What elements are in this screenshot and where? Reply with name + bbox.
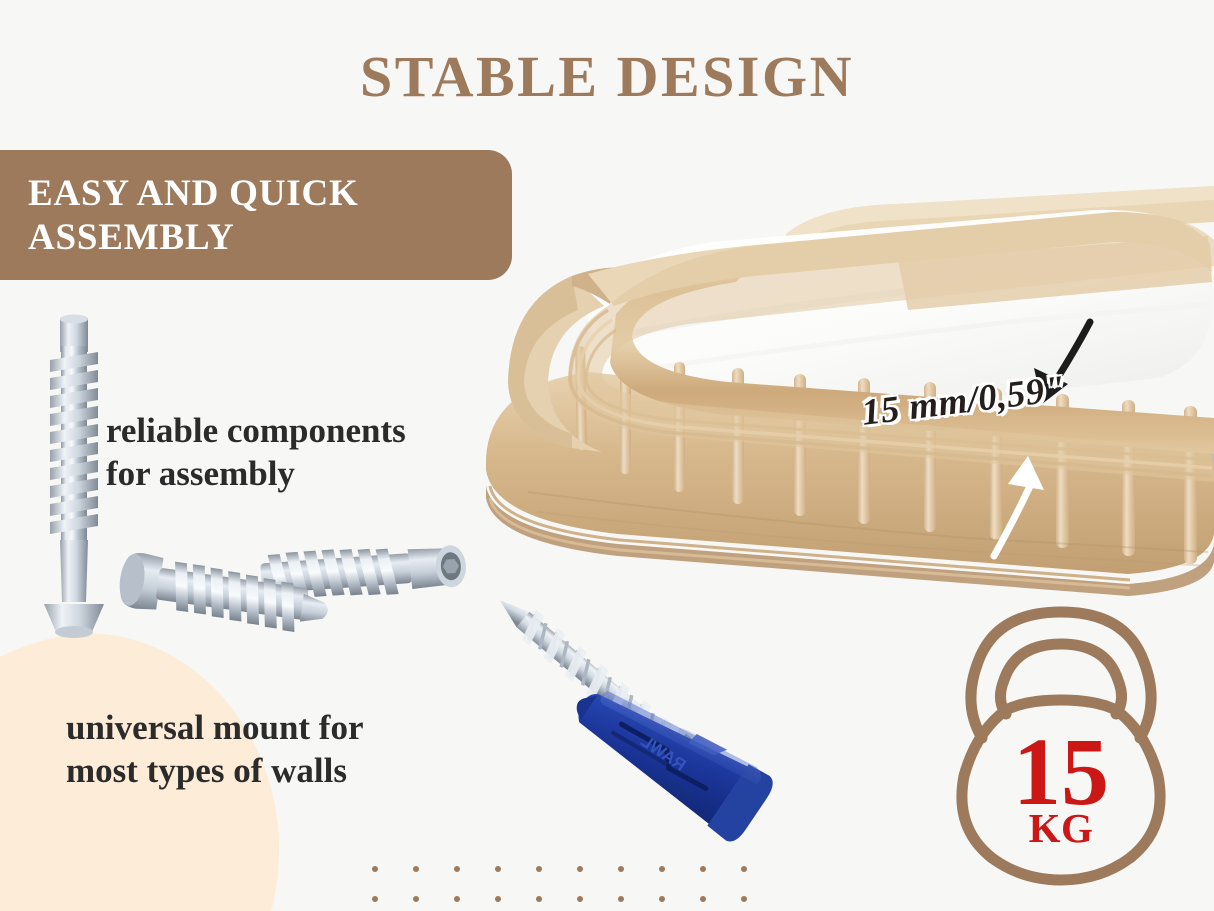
weight-badge: 15 KG (936, 596, 1186, 886)
caption-reliable-components: reliable components for assembly (106, 410, 406, 495)
dot (413, 866, 419, 872)
dot (700, 866, 706, 872)
dot (577, 896, 583, 902)
dot (700, 896, 706, 902)
dot (372, 896, 378, 902)
hardware-wall-plug-blue: RAWL (556, 676, 776, 876)
dot (454, 866, 460, 872)
dot-row (372, 866, 747, 872)
weight-unit: KG (936, 808, 1186, 849)
dot (741, 866, 747, 872)
dot (495, 896, 501, 902)
caption-universal-mount: universal mount for most types of walls (66, 707, 364, 792)
dot (454, 896, 460, 902)
page-title: STABLE DESIGN (0, 48, 1214, 106)
dot (659, 866, 665, 872)
dot (577, 866, 583, 872)
assembly-badge: EASY AND QUICK ASSEMBLY (0, 150, 512, 280)
dot (618, 896, 624, 902)
hardware-confirmat-screw-pair (112, 542, 482, 652)
assembly-badge-label: EASY AND QUICK ASSEMBLY (28, 172, 512, 259)
dot (413, 896, 419, 902)
decorative-dot-grid (372, 866, 747, 911)
dot (495, 866, 501, 872)
dot-row (372, 896, 747, 902)
dot (659, 896, 665, 902)
dot (372, 866, 378, 872)
up-arrow-icon (962, 440, 1092, 562)
dot (536, 896, 542, 902)
dot (618, 866, 624, 872)
dot (741, 896, 747, 902)
dot (536, 866, 542, 872)
infographic-canvas: RAWL STABLE DESIGN EASY AND QUICK ASSEMB… (0, 0, 1214, 911)
